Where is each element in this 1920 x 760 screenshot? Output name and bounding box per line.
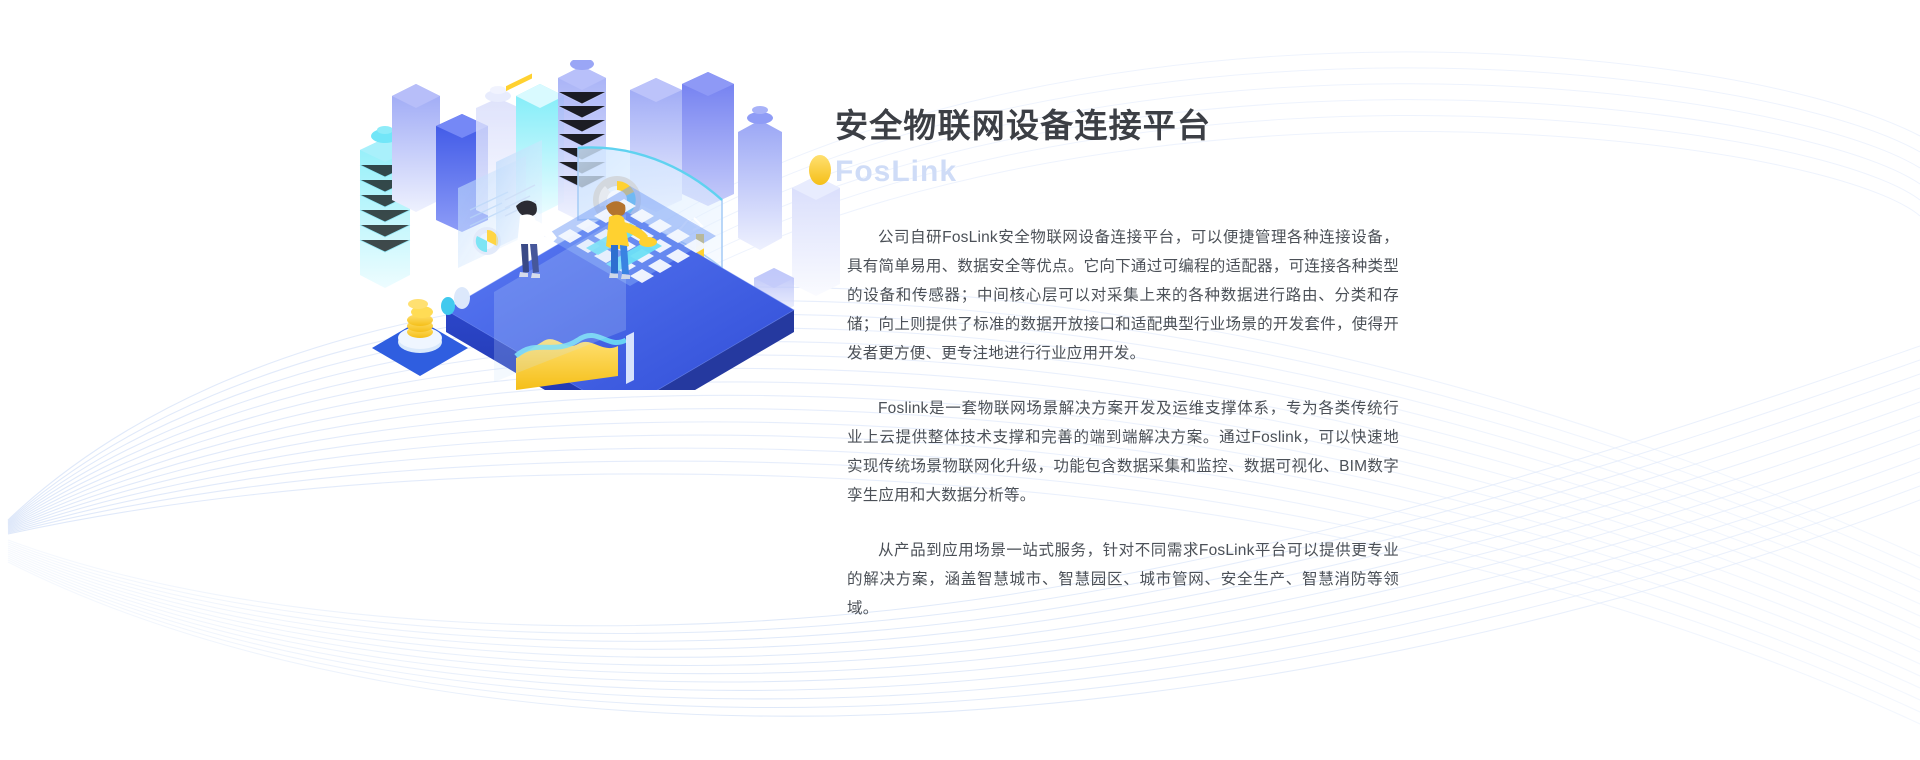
page-root: 安全物联网设备连接平台 FosLink 公司自研FosLink安全物联网设备连接… [0,0,1920,760]
isometric-iot-platform-illustration [330,60,850,390]
paragraph-3: 从产品到应用场景一站式服务，针对不同需求FosLink平台可以提供更专业的解决方… [847,536,1399,623]
text-column: 安全物联网设备连接平台 FosLink 公司自研FosLink安全物联网设备连接… [835,105,1575,623]
page-title: 安全物联网设备连接平台 [835,105,1575,148]
body-text-block: 公司自研FosLink安全物联网设备连接平台，可以便捷管理各种连接设备，具有简单… [835,223,1575,623]
coin-stack [407,299,433,338]
gold-coin [809,155,831,185]
paragraph-1: 公司自研FosLink安全物联网设备连接平台，可以便捷管理各种连接设备，具有简单… [847,223,1399,368]
paragraph-2: Foslink是一套物联网场景解决方案开发及运维支撑体系，专为各类传统行业上云提… [847,394,1399,510]
page-subtitle: FosLink [835,150,1575,194]
